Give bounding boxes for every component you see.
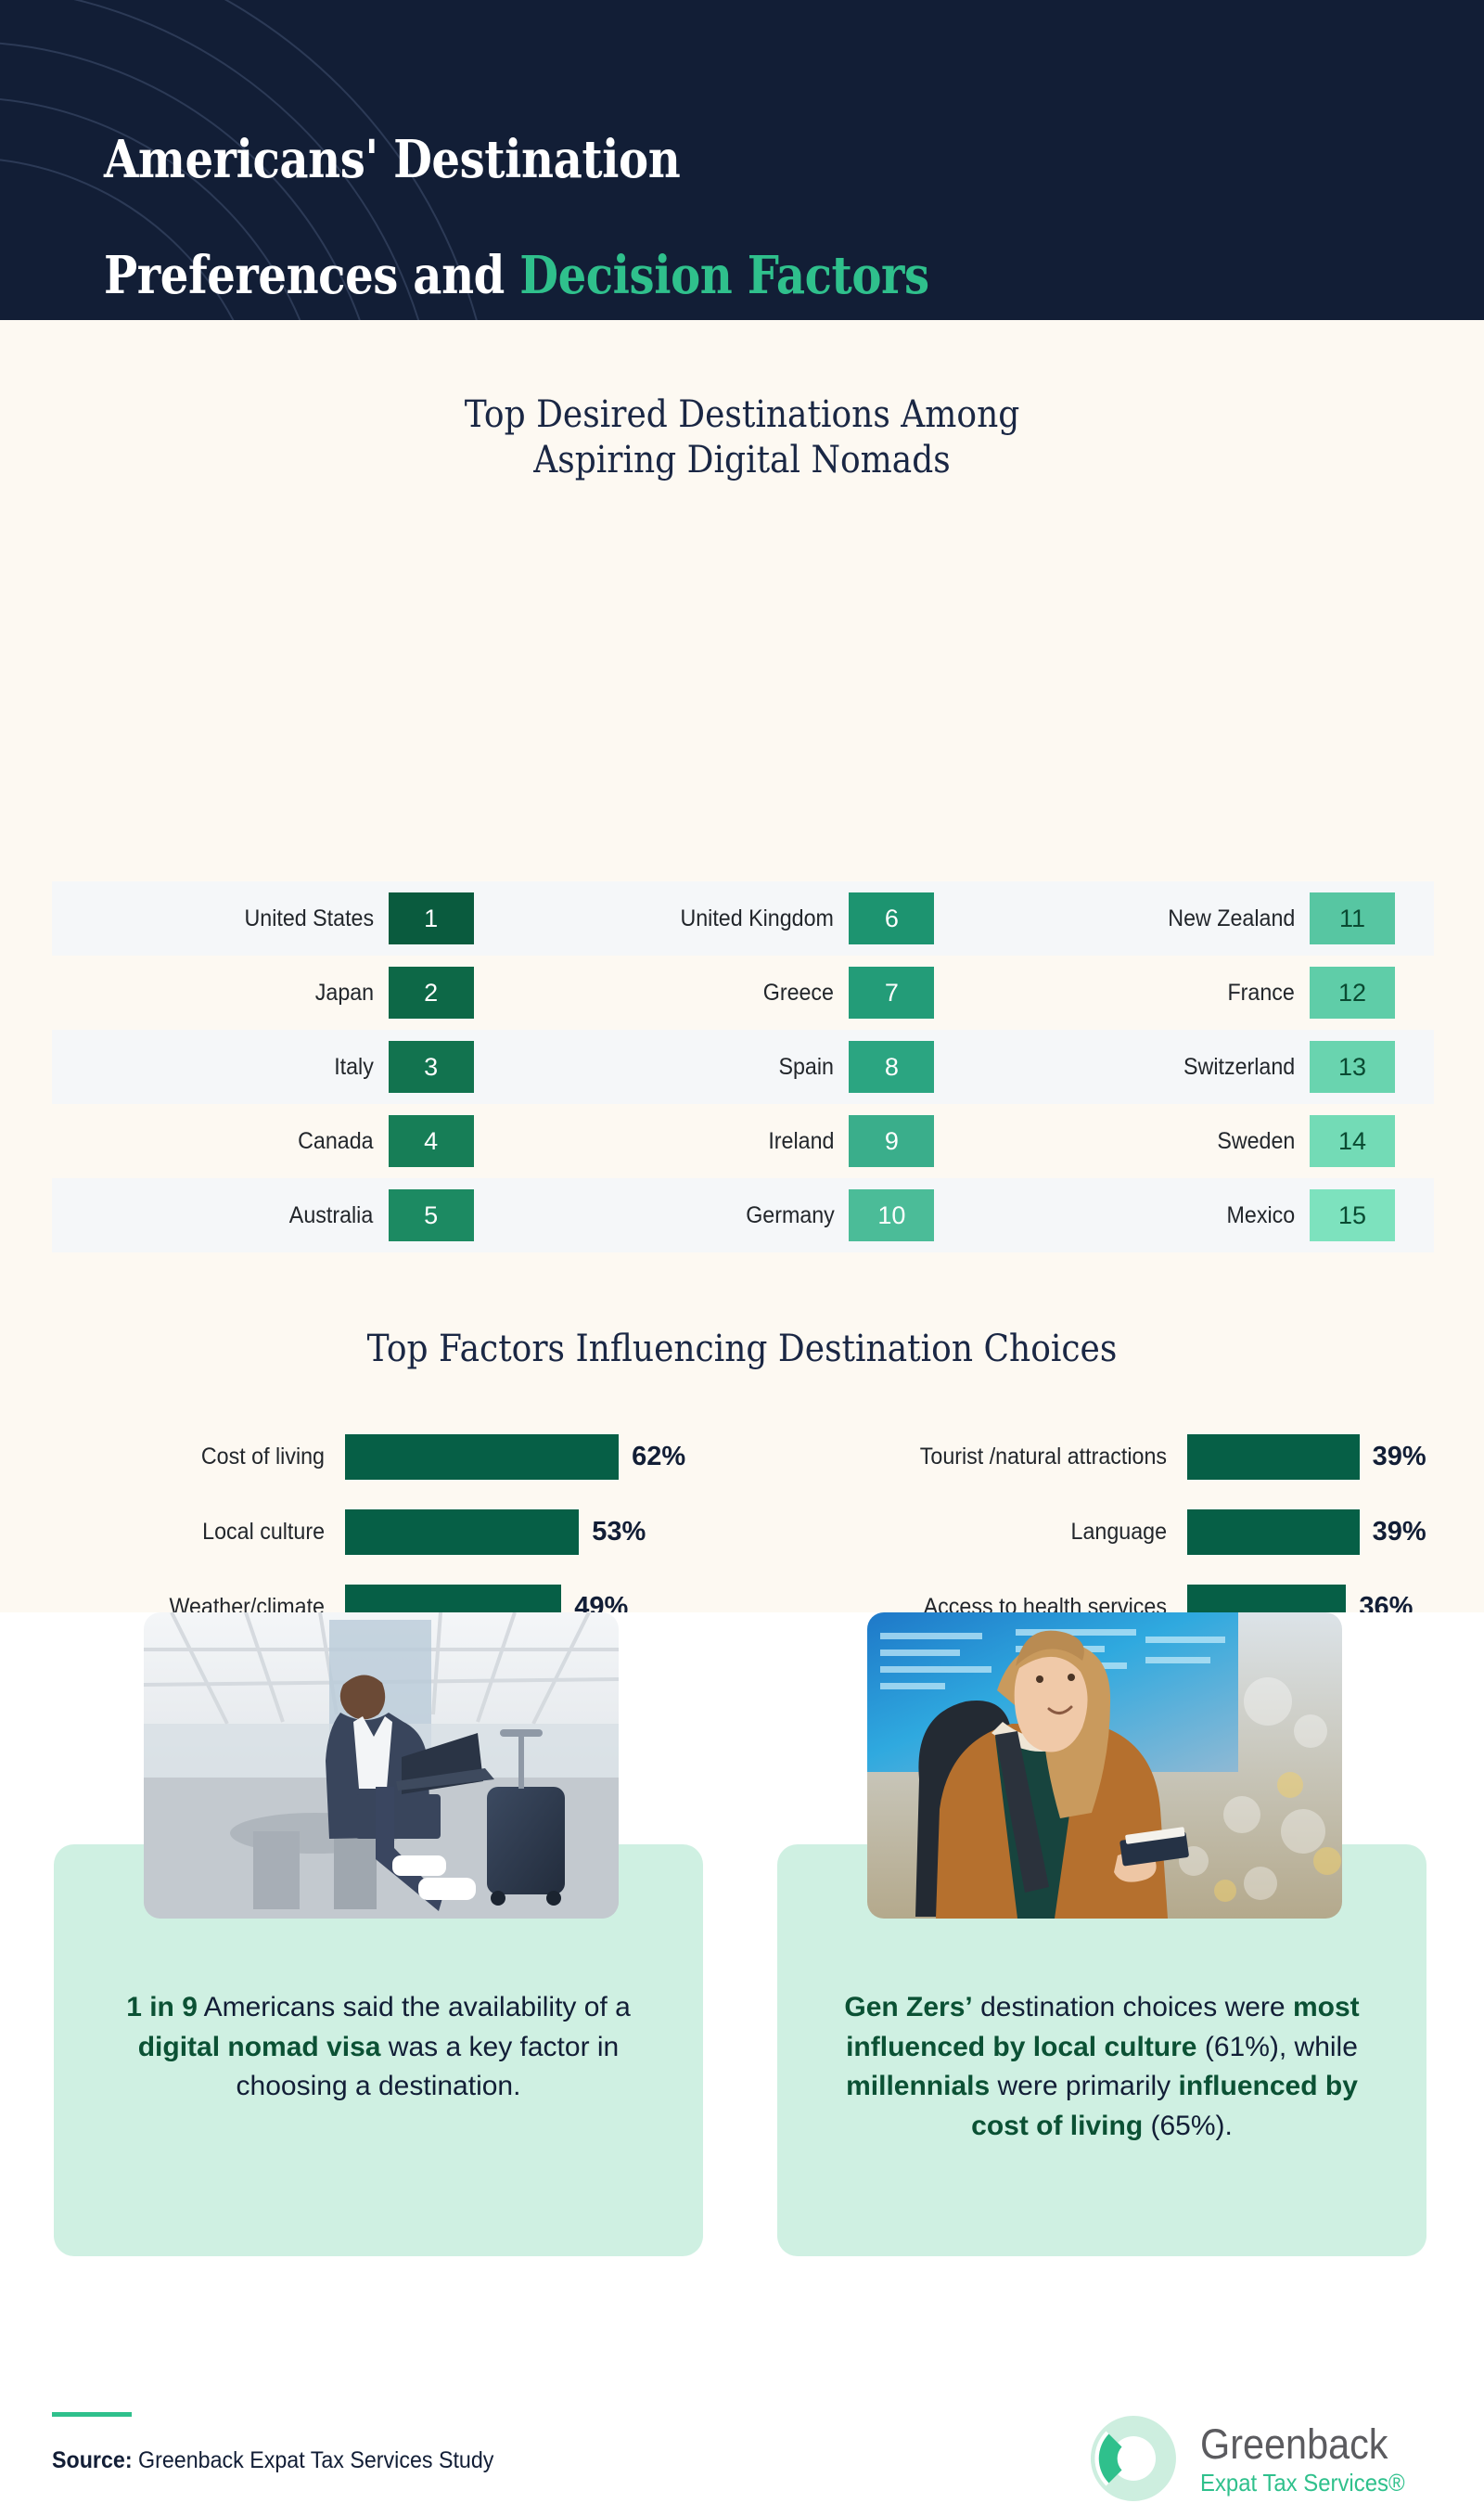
bar-row: Cost of living62% <box>0 1419 742 1495</box>
rank-badge: 2 <box>389 967 474 1019</box>
rank-badge: 11 <box>1310 892 1395 944</box>
rank-badge: 9 <box>849 1115 934 1167</box>
rank-cell: Sweden14 <box>973 1104 1434 1178</box>
bar-category-label: Tourist /natural attractions <box>772 1444 1167 1470</box>
bar-fill <box>1187 1509 1360 1555</box>
destination-name: Japan <box>314 980 373 1007</box>
title-line-1: Americans' Destination <box>104 129 680 190</box>
bar-track: 62% <box>345 1434 685 1480</box>
rank-badge: 3 <box>389 1041 474 1093</box>
destination-name: Germany <box>746 1202 835 1229</box>
destination-name: Greece <box>763 980 834 1007</box>
factors-section-title: Top Factors Influencing Destination Choi… <box>74 1327 1410 1372</box>
table-row: Canada4Ireland9Sweden14 <box>52 1104 1434 1178</box>
bar-value-label: 39% <box>1373 1442 1426 1472</box>
table-row: Italy3Spain8Switzerland13 <box>52 1030 1434 1104</box>
bar-fill <box>345 1434 619 1480</box>
destination-name: Spain <box>779 1054 834 1081</box>
rank-badge: 1 <box>389 892 474 944</box>
bar-row: Language39% <box>742 1495 1484 1570</box>
callout-emphasis: digital nomad visa <box>138 2032 381 2062</box>
rank-cell: United Kingdom6 <box>513 881 974 956</box>
main-content: Top Desired Destinations Among Aspiring … <box>0 320 1484 1612</box>
source-line: Source: Greenback Expat Tax Services Stu… <box>52 2447 493 2474</box>
bar-category-label: Local culture <box>23 1519 326 1546</box>
rank-badge: 12 <box>1310 967 1395 1019</box>
bar-fill <box>345 1509 579 1555</box>
destination-name: Sweden <box>1217 1128 1295 1155</box>
rank-cell: Germany10 <box>513 1178 974 1252</box>
destination-name: France <box>1228 980 1295 1007</box>
rank-cell: New Zealand11 <box>973 881 1434 956</box>
table-row: Japan2Greece7France12 <box>52 956 1434 1030</box>
callout-plain: were primarily <box>990 2071 1178 2101</box>
rank-cell: Italy3 <box>52 1030 513 1104</box>
source-label: Source: <box>52 2447 133 2473</box>
rank-cell: Greece7 <box>513 956 974 1030</box>
destination-name: United Kingdom <box>681 905 834 932</box>
destination-name: Mexico <box>1226 1202 1295 1229</box>
bar-track: 39% <box>1187 1509 1426 1555</box>
rank-cell: United States1 <box>52 881 513 956</box>
rank-badge: 15 <box>1310 1189 1395 1241</box>
destination-name: Canada <box>298 1128 373 1155</box>
footer-accent-rule <box>52 2412 132 2417</box>
title-line-2-plain: Preferences and <box>104 245 519 306</box>
destinations-section-title: Top Desired Destinations Among Aspiring … <box>74 392 1410 483</box>
callout-plain: (61%), while <box>1197 2032 1358 2062</box>
destination-name: Australia <box>289 1202 373 1229</box>
callout-text-2: Gen Zers’ destination choices were most … <box>831 1988 1373 2146</box>
page-header: Americans' Destination Preferences and D… <box>0 0 1484 320</box>
rank-badge: 13 <box>1310 1041 1395 1093</box>
bar-category-label: Cost of living <box>23 1444 326 1470</box>
rank-badge: 6 <box>849 892 934 944</box>
table-row: Australia5Germany10Mexico15 <box>52 1178 1434 1252</box>
callout-emphasis: 1 in 9 <box>126 1992 198 2022</box>
bar-category-label: Language <box>772 1519 1167 1546</box>
destination-name: New Zealand <box>1168 905 1295 932</box>
destination-name: Ireland <box>768 1128 834 1155</box>
logo-tagline: Expat Tax Services® <box>1200 2471 1405 2495</box>
callout-text-1: 1 in 9 Americans said the availability o… <box>108 1988 649 2107</box>
title-line-2-accent: Decision Factors <box>519 245 928 306</box>
greenback-logo[interactable]: Greenback Expat Tax Services® <box>1083 2408 1423 2509</box>
photo-man-with-laptop <box>144 1612 619 1919</box>
page-footer: Source: Greenback Expat Tax Services Stu… <box>0 2345 1484 2516</box>
rank-badge: 7 <box>849 967 934 1019</box>
rank-cell: Mexico15 <box>973 1178 1434 1252</box>
destination-name: Switzerland <box>1183 1054 1295 1081</box>
bar-value-label: 53% <box>592 1517 646 1547</box>
source-value: Greenback Expat Tax Services Study <box>133 2447 494 2473</box>
rank-cell: Spain8 <box>513 1030 974 1104</box>
destination-name: United States <box>244 905 374 932</box>
greenback-ring-icon <box>1083 2408 1183 2509</box>
page-title: Americans' Destination Preferences and D… <box>104 72 929 320</box>
rank-badge: 5 <box>389 1189 474 1241</box>
bar-row: Local culture53% <box>0 1495 742 1570</box>
rank-cell: France12 <box>973 956 1434 1030</box>
callout-emphasis: Gen Zers’ <box>844 1992 972 2022</box>
bar-value-label: 39% <box>1373 1517 1426 1547</box>
bar-value-label: 62% <box>632 1442 685 1472</box>
rank-cell: Japan2 <box>52 956 513 1030</box>
rank-cell: Australia5 <box>52 1178 513 1252</box>
table-row: United States1United Kingdom6New Zealand… <box>52 881 1434 956</box>
rank-badge: 8 <box>849 1041 934 1093</box>
rank-cell: Switzerland13 <box>973 1030 1434 1104</box>
bar-fill <box>1187 1434 1360 1480</box>
rank-badge: 4 <box>389 1115 474 1167</box>
rank-cell: Ireland9 <box>513 1104 974 1178</box>
photo-woman-traveler <box>867 1612 1342 1919</box>
rank-badge: 10 <box>849 1189 934 1241</box>
destinations-rank-table: United States1United Kingdom6New Zealand… <box>52 881 1434 1252</box>
bar-row: Tourist /natural attractions39% <box>742 1419 1484 1495</box>
destination-name: Italy <box>334 1054 374 1081</box>
bar-track: 39% <box>1187 1434 1426 1480</box>
callout-emphasis: millennials <box>846 2071 990 2101</box>
callout-plain: destination choices were <box>973 1992 1293 2022</box>
callout-plain: (65%). <box>1143 2111 1233 2141</box>
rank-cell: Canada4 <box>52 1104 513 1178</box>
rank-badge: 14 <box>1310 1115 1395 1167</box>
bar-track: 53% <box>345 1509 646 1555</box>
logo-brand-name: Greenback <box>1200 2423 1405 2465</box>
callout-plain: Americans said the availability of a <box>198 1992 631 2022</box>
